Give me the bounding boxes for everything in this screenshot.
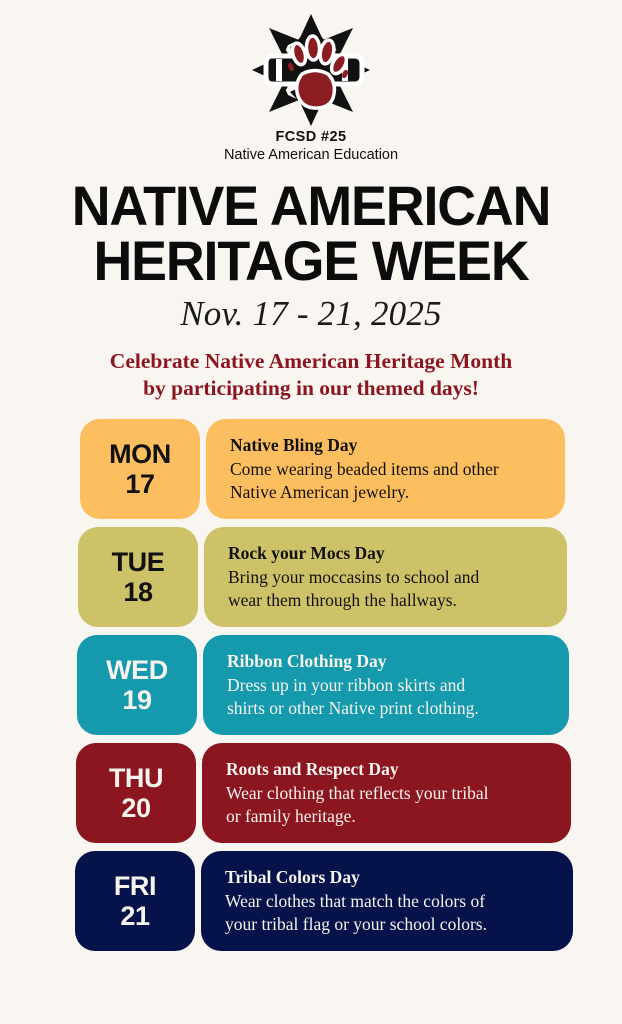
day-description-fri: Wear clothes that match the colors of yo… [225, 890, 555, 936]
subtitle-line-2: by participating in our themed days! [0, 375, 622, 403]
day-detail-tue: Rock your Mocs Day Bring your moccasins … [204, 527, 567, 627]
page-title: NATIVE AMERICAN HERITAGE WEEK [12, 179, 609, 288]
day-abbr-fri: FRI [114, 871, 156, 901]
day-badge-mon: MON 17 [80, 419, 200, 519]
fcsd-native-american-education-logo-icon [250, 12, 372, 128]
day-abbr-thu: THU [109, 763, 163, 793]
day-abbr-wed: WED [106, 655, 168, 685]
day-description-mon: Come wearing beaded items and other Nati… [230, 458, 547, 504]
logo-block: FCSD #25 Native American Education [0, 0, 622, 163]
subtitle-line-1: Celebrate Native American Heritage Month [0, 348, 622, 376]
day-detail-thu: Roots and Respect Day Wear clothing that… [202, 743, 571, 843]
schedule-row-thu: THU 20 Roots and Respect Day Wear clothi… [76, 743, 571, 843]
day-detail-mon: Native Bling Day Come wearing beaded ite… [206, 419, 565, 519]
day-badge-thu: THU 20 [76, 743, 196, 843]
themed-days-schedule: MON 17 Native Bling Day Come wearing bea… [0, 419, 622, 951]
day-badge-tue: TUE 18 [78, 527, 198, 627]
date-range: Nov. 17 - 21, 2025 [0, 294, 622, 334]
subtitle: Celebrate Native American Heritage Month… [0, 348, 622, 403]
day-number-tue: 18 [123, 577, 152, 607]
day-number-fri: 21 [120, 901, 149, 931]
schedule-row-wed: WED 19 Ribbon Clothing Day Dress up in y… [77, 635, 569, 735]
day-title-tue: Rock your Mocs Day [228, 543, 549, 565]
day-description-wed: Dress up in your ribbon skirts and shirt… [227, 674, 551, 720]
day-title-fri: Tribal Colors Day [225, 867, 555, 889]
day-abbr-tue: TUE [112, 547, 165, 577]
day-title-mon: Native Bling Day [230, 435, 547, 457]
heritage-week-poster: FCSD #25 Native American Education NATIV… [0, 0, 622, 1024]
day-number-wed: 19 [122, 685, 151, 715]
logo-district-label: FCSD #25 [276, 129, 347, 146]
day-abbr-mon: MON [109, 439, 171, 469]
day-number-thu: 20 [121, 793, 150, 823]
day-description-tue: Bring your moccasins to school and wear … [228, 566, 549, 612]
day-description-thu: Wear clothing that reflects your tribal … [226, 782, 553, 828]
day-number-mon: 17 [125, 469, 154, 499]
day-badge-wed: WED 19 [77, 635, 197, 735]
page-title-line-2: HERITAGE WEEK [12, 234, 609, 288]
day-detail-wed: Ribbon Clothing Day Dress up in your rib… [203, 635, 569, 735]
schedule-row-tue: TUE 18 Rock your Mocs Day Bring your moc… [78, 527, 567, 627]
day-title-thu: Roots and Respect Day [226, 759, 553, 781]
schedule-row-mon: MON 17 Native Bling Day Come wearing bea… [80, 419, 565, 519]
day-badge-fri: FRI 21 [75, 851, 195, 951]
day-title-wed: Ribbon Clothing Day [227, 651, 551, 673]
day-detail-fri: Tribal Colors Day Wear clothes that matc… [201, 851, 573, 951]
schedule-row-fri: FRI 21 Tribal Colors Day Wear clothes th… [75, 851, 573, 951]
page-title-line-1: NATIVE AMERICAN [12, 179, 609, 233]
logo-program-label: Native American Education [224, 147, 398, 164]
